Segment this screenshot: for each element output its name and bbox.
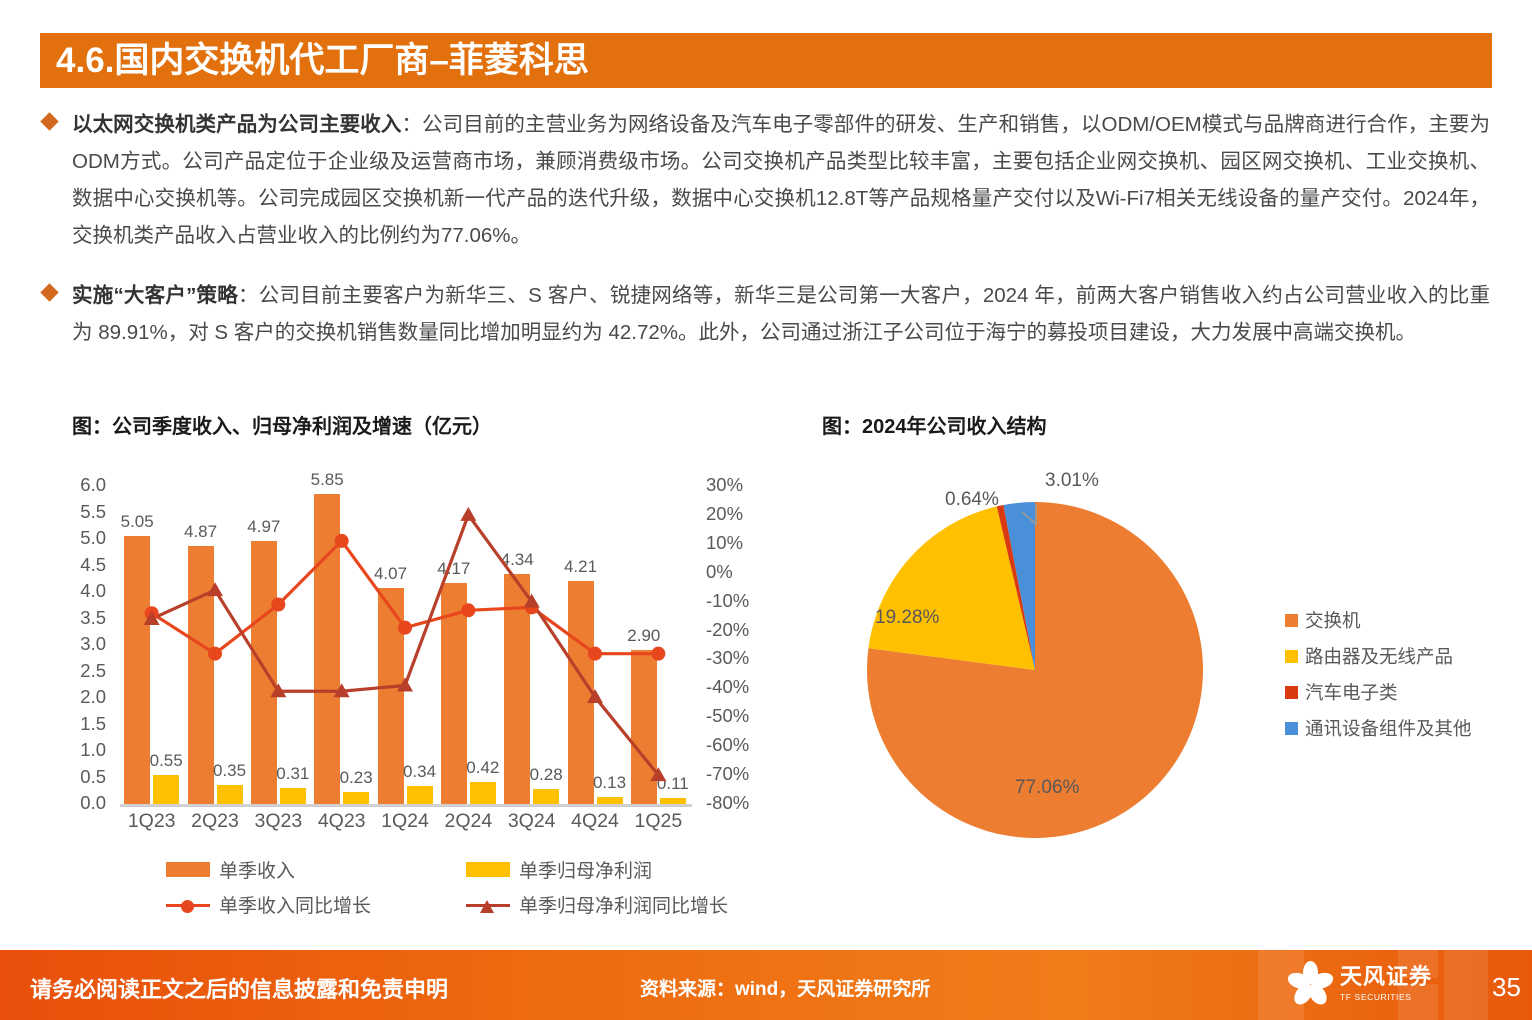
y2-axis-tick-label: -30% [706, 647, 768, 669]
legend-row: 单季收入同比增长单季归母净利润同比增长 [166, 887, 766, 922]
paragraph-1-text: 以太网交换机类产品为公司主要收入：公司目前的主营业务为网络设备及汽车电子零部件的… [72, 106, 1490, 254]
figure-caption-left: 图：公司季度收入、归母净利润及增速（亿元） [72, 410, 492, 439]
data-point-marker [460, 507, 476, 521]
legend-swatch-icon [166, 862, 210, 877]
legend-swatch-icon [1285, 686, 1298, 699]
logo-name-cn: 天风证券 [1340, 964, 1432, 989]
data-point-marker [398, 621, 412, 635]
legend-item[interactable]: 路由器及无线产品 [1285, 638, 1472, 674]
bullet-paragraph-2: 实施“大客户”策略：公司目前主要客户为新华三、S 客户、锐捷网络等，新华三是公司… [40, 277, 1490, 351]
footer-block [1444, 950, 1488, 1020]
y-axis-tick-label: 2.0 [58, 686, 106, 708]
y2-axis-tick-label: 10% [706, 532, 768, 554]
line-revenue-yoy [152, 541, 659, 654]
data-point-marker [588, 647, 602, 661]
x-axis-tick-label: 1Q23 [120, 810, 183, 833]
legend-item[interactable]: 通讯设备组件及其他 [1285, 710, 1472, 746]
bar-chart-legend: 单季收入单季归母净利润单季收入同比增长单季归母净利润同比增长 [166, 852, 766, 922]
y-axis-tick-label: 1.0 [58, 739, 106, 761]
legend-row: 单季收入单季归母净利润 [166, 852, 766, 887]
quarterly-revenue-chart: 6.05.55.04.54.03.53.02.52.01.51.00.50.0 … [58, 470, 758, 930]
y2-axis-tick-label: -60% [706, 734, 768, 756]
x-axis-tick-label: 1Q24 [373, 810, 436, 833]
y2-axis-tick-label: -80% [706, 792, 768, 814]
x-axis-tick-label: 4Q24 [563, 810, 626, 833]
x-axis-tick-label: 1Q25 [627, 810, 690, 833]
pie-data-label: 77.06% [1015, 777, 1079, 799]
legend-item[interactable]: 单季归母净利润同比增长 [466, 891, 766, 918]
y-axis-tick-label: 3.5 [58, 607, 106, 629]
pie-chart-legend: 交换机路由器及无线产品汽车电子类通讯设备组件及其他 [1285, 602, 1472, 746]
legend-line-icon [166, 897, 210, 913]
data-point-marker [651, 647, 665, 661]
line-series-overlay [120, 486, 690, 804]
paragraph-2-text: 实施“大客户”策略：公司目前主要客户为新华三、S 客户、锐捷网络等，新华三是公司… [72, 277, 1490, 351]
data-point-marker [335, 534, 349, 548]
pie-data-label: 19.28% [875, 607, 939, 629]
legend-item[interactable]: 单季收入同比增长 [166, 891, 466, 918]
bullet-paragraph-1: 以太网交换机类产品为公司主要收入：公司目前的主营业务为网络设备及汽车电子零部件的… [40, 106, 1490, 254]
legend-swatch-icon [1285, 722, 1298, 735]
data-point-marker [207, 582, 223, 596]
y2-axis-tick-label: -10% [706, 590, 768, 612]
y-axis-tick-label: 4.5 [58, 554, 106, 576]
diamond-bullet-icon [40, 286, 62, 299]
y-axis-tick-label: 0.0 [58, 792, 106, 814]
footer-source: 资料来源：wind，天风证券研究所 [640, 974, 930, 1001]
page-footer: 请务必阅读正文之后的信息披露和免责申明 资料来源：wind，天风证券研究所 天风… [0, 950, 1532, 1020]
y2-axis-tick-label: 0% [706, 561, 768, 583]
legend-swatch-icon [1285, 614, 1298, 627]
x-axis-tick-label: 3Q23 [247, 810, 310, 833]
y2-axis-tick-label: -20% [706, 619, 768, 641]
legend-item[interactable]: 单季收入 [166, 856, 466, 883]
paragraph-1-lead: 以太网交换机类产品为公司主要收入 [72, 113, 401, 136]
paragraph-2-body: ：公司目前主要客户为新华三、S 客户、锐捷网络等，新华三是公司第一大客户，202… [72, 284, 1490, 344]
y-axis-tick-label: 4.0 [58, 580, 106, 602]
y-axis-tick-label: 5.0 [58, 527, 106, 549]
y2-axis-tick-label: -40% [706, 676, 768, 698]
slide-title-bar: 4.6.国内交换机代工厂商–菲菱科思 [40, 33, 1492, 88]
legend-item[interactable]: 单季归母净利润 [466, 856, 766, 883]
legend-label: 单季归母净利润 [519, 856, 652, 883]
legend-label: 路由器及无线产品 [1305, 643, 1453, 669]
data-point-marker [208, 647, 222, 661]
x-axis-tick-label: 2Q24 [437, 810, 500, 833]
legend-label: 单季收入 [219, 856, 295, 883]
data-point-marker [461, 603, 475, 617]
legend-label: 通讯设备组件及其他 [1305, 715, 1472, 741]
page-title: 4.6.国内交换机代工厂商–菲菱科思 [40, 43, 589, 78]
legend-item[interactable]: 汽车电子类 [1285, 674, 1472, 710]
figure-caption-right: 图：2024年公司收入结构 [822, 410, 1047, 439]
y-axis-tick-label: 5.5 [58, 501, 106, 523]
y-axis-tick-label: 1.5 [58, 713, 106, 735]
x-axis-tick-label: 3Q24 [500, 810, 563, 833]
y2-axis-tick-label: 20% [706, 503, 768, 525]
legend-line-icon [466, 897, 510, 913]
logo-name-en: TF SECURITIES [1340, 992, 1412, 1002]
bar-chart-plot-area: 5.050.554.870.354.970.315.850.234.070.34… [120, 486, 690, 804]
legend-item[interactable]: 交换机 [1285, 602, 1472, 638]
company-logo: 天风证券 TF SECURITIES [1288, 962, 1432, 1008]
y-axis-tick-label: 0.5 [58, 766, 106, 788]
footer-disclaimer: 请务必阅读正文之后的信息披露和免责申明 [30, 972, 448, 1004]
page-number: 35 [1492, 972, 1521, 1003]
legend-swatch-icon [466, 862, 510, 877]
logo-text: 天风证券 TF SECURITIES [1340, 966, 1432, 1004]
y2-axis-tick-label: -50% [706, 705, 768, 727]
legend-label: 单季归母净利润同比增长 [519, 891, 728, 918]
y-axis-tick-label: 2.5 [58, 660, 106, 682]
y-axis-tick-label: 6.0 [58, 474, 106, 496]
flower-logo-icon [1288, 962, 1334, 1008]
legend-swatch-icon [1285, 650, 1298, 663]
legend-label: 汽车电子类 [1305, 679, 1398, 705]
diamond-bullet-icon [40, 115, 62, 128]
y-axis-tick-label: 3.0 [58, 633, 106, 655]
data-point-marker [271, 598, 285, 612]
x-axis-line [120, 804, 692, 807]
legend-label: 交换机 [1305, 607, 1361, 633]
y2-axis-tick-label: -70% [706, 763, 768, 785]
y2-axis-tick-label: 30% [706, 474, 768, 496]
revenue-structure-pie-chart: 77.06%19.28%0.64%3.01% 交换机路由器及无线产品汽车电子类通… [820, 462, 1520, 862]
x-axis-tick-label: 4Q23 [310, 810, 373, 833]
legend-label: 单季收入同比增长 [219, 891, 371, 918]
pie-data-label: 0.64% [945, 489, 999, 511]
pie-data-label: 3.01% [1045, 470, 1099, 492]
paragraph-2-lead: 实施“大客户”策略 [72, 284, 238, 307]
x-axis-tick-label: 2Q23 [183, 810, 246, 833]
